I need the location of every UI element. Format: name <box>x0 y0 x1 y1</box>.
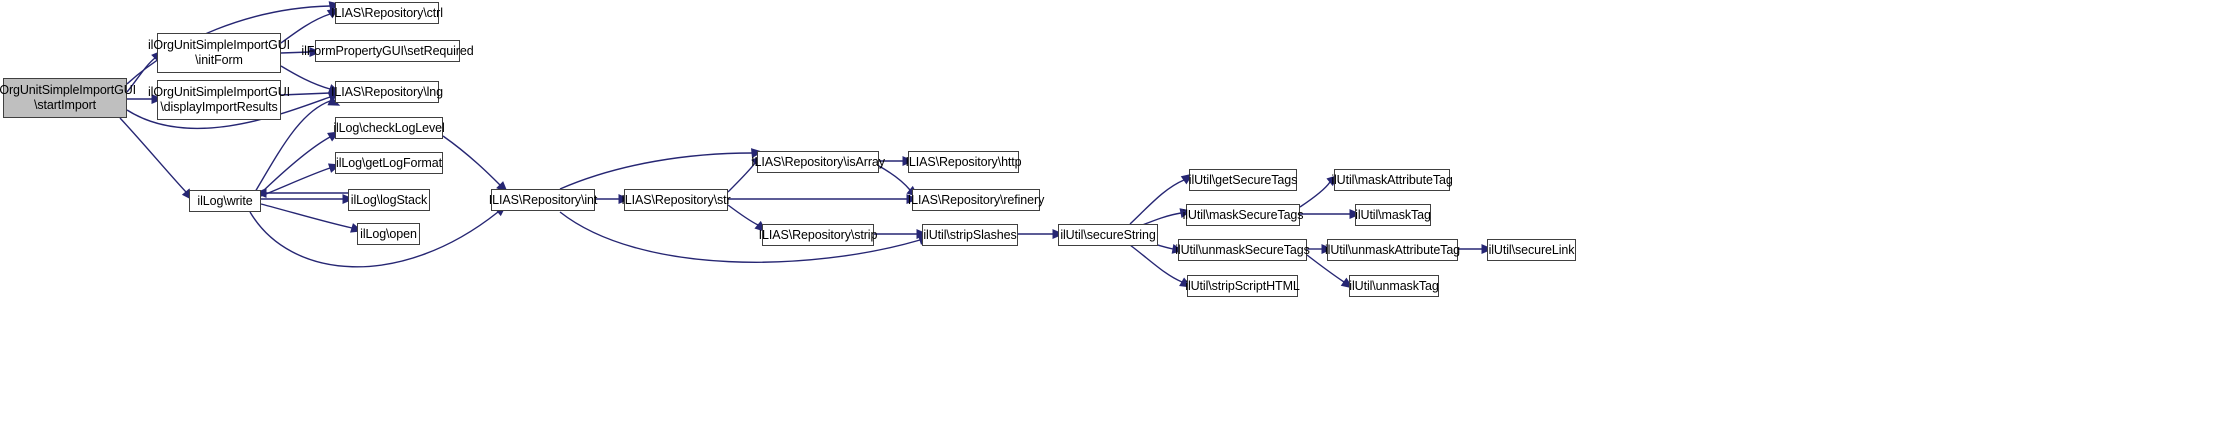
graph-node-label: ilOrgUnitSimpleImportGUI \initForm <box>148 38 290 68</box>
graph-node-n2[interactable]: ilOrgUnitSimpleImportGUI \initForm <box>157 33 281 73</box>
graph-node-label: ILIAS\Repository\isArray <box>751 155 885 169</box>
graph-node-label: ilUtil\secureString <box>1060 228 1155 242</box>
edge-n6-to-n11 <box>443 136 500 185</box>
edge-n20-to-n23 <box>1300 182 1330 207</box>
graph-node-label: ilUtil\unmaskSecureTags <box>1175 243 1310 257</box>
edge-n18-to-n22 <box>1130 245 1182 282</box>
graph-node-label: ilUtil\secureLink <box>1489 243 1575 257</box>
graph-node-n6[interactable]: ilLog\checkLogLevel <box>335 117 443 139</box>
edge-n13-to-n15 <box>879 166 910 190</box>
graph-node-label: ilUtil\maskTag <box>1355 208 1431 222</box>
graph-node-n19[interactable]: ilUtil\getSecureTags <box>1189 169 1297 191</box>
graph-node-n0[interactable]: ilOrgUnitSimpleImportGUI \startImport <box>3 78 127 118</box>
edge-n10-to-n7 <box>261 168 330 196</box>
graph-node-n17[interactable]: ilUtil\stripSlashes <box>922 224 1018 246</box>
graph-node-n21[interactable]: ilUtil\unmaskSecureTags <box>1178 239 1307 261</box>
graph-node-n5[interactable]: ILIAS\Repository\lng <box>335 81 439 103</box>
graph-node-label: ilUtil\getSecureTags <box>1189 173 1297 187</box>
graph-node-label: ilUtil\unmaskTag <box>1349 279 1438 293</box>
graph-node-label: ilLog\getLogFormat <box>336 156 442 170</box>
graph-node-n3[interactable]: ilFormPropertyGUI\setRequired <box>315 40 460 62</box>
graph-node-n4[interactable]: ilOrgUnitSimpleImportGUI \displayImportR… <box>157 80 281 120</box>
edge-n10-to-n9 <box>261 204 352 228</box>
graph-node-label: ilLog\write <box>197 194 252 208</box>
graph-node-label: ilUtil\unmaskAttributeTag <box>1325 243 1460 257</box>
graph-node-label: ilLog\logStack <box>351 193 427 207</box>
graph-node-n20[interactable]: ilUtil\maskSecureTags <box>1186 204 1300 226</box>
graph-node-label: ILIAS\Repository\refinery <box>908 193 1044 207</box>
graph-node-label: ilUtil\maskSecureTags <box>1183 208 1304 222</box>
edge-n11-to-n13 <box>560 153 752 189</box>
graph-node-n9[interactable]: ilLog\open <box>357 223 420 245</box>
edge-n18-to-n19 <box>1130 180 1184 224</box>
graph-node-label: ILIAS\Repository\lng <box>331 85 443 99</box>
graph-node-label: ILIAS\Repository\str <box>621 193 730 207</box>
graph-node-label: ILIAS\Repository\ctrl <box>331 6 443 20</box>
graph-node-label: ilUtil\stripScriptHTML <box>1185 279 1299 293</box>
graph-node-label: ilLog\open <box>360 227 417 241</box>
graph-node-n22[interactable]: ilUtil\stripScriptHTML <box>1187 275 1298 297</box>
graph-node-label: ilFormPropertyGUI\setRequired <box>301 44 473 58</box>
graph-node-label: ILIAS\Repository\int <box>489 193 597 207</box>
graph-node-label: ilOrgUnitSimpleImportGUI \startImport <box>0 83 136 113</box>
graph-node-n26[interactable]: ilUtil\unmaskTag <box>1349 275 1439 297</box>
graph-node-n25[interactable]: ilUtil\unmaskAttributeTag <box>1327 239 1458 261</box>
graph-node-label: ilLog\checkLogLevel <box>333 121 444 135</box>
graph-node-n14[interactable]: ILIAS\Repository\http <box>908 151 1019 173</box>
graph-node-n24[interactable]: ilUtil\maskTag <box>1355 204 1431 226</box>
graph-node-label: ILIAS\Repository\http <box>906 155 1022 169</box>
graph-node-label: ILIAS\Repository\strip <box>759 228 878 242</box>
graph-node-n15[interactable]: ILIAS\Repository\refinery <box>912 189 1040 211</box>
edge-layer <box>0 0 2240 428</box>
graph-node-n18[interactable]: ilUtil\secureString <box>1058 224 1158 246</box>
graph-node-n1[interactable]: ILIAS\Repository\ctrl <box>335 2 439 24</box>
graph-node-n11[interactable]: ILIAS\Repository\int <box>491 189 595 211</box>
edge-n10-to-n6 <box>261 137 330 193</box>
graph-node-n7[interactable]: ilLog\getLogFormat <box>335 152 443 174</box>
graph-node-n23[interactable]: ilUtil\maskAttributeTag <box>1334 169 1450 191</box>
graph-node-n27[interactable]: ilUtil\secureLink <box>1487 239 1576 261</box>
graph-node-n12[interactable]: ILIAS\Repository\str <box>624 189 728 211</box>
graph-node-n10[interactable]: ilLog\write <box>189 190 261 212</box>
graph-node-label: ilOrgUnitSimpleImportGUI \displayImportR… <box>148 85 290 115</box>
graph-node-n8[interactable]: ilLog\logStack <box>348 189 430 211</box>
edge-n12-to-n16 <box>728 205 758 225</box>
graph-node-n13[interactable]: ILIAS\Repository\isArray <box>757 151 879 173</box>
graph-node-n16[interactable]: ILIAS\Repository\strip <box>762 224 874 246</box>
edge-n0-to-n10 <box>120 118 186 192</box>
call-graph-canvas: ilOrgUnitSimpleImportGUI \startImportILI… <box>0 0 2240 428</box>
graph-node-label: ilUtil\stripSlashes <box>923 228 1016 242</box>
graph-node-label: ilUtil\maskAttributeTag <box>1331 173 1452 187</box>
